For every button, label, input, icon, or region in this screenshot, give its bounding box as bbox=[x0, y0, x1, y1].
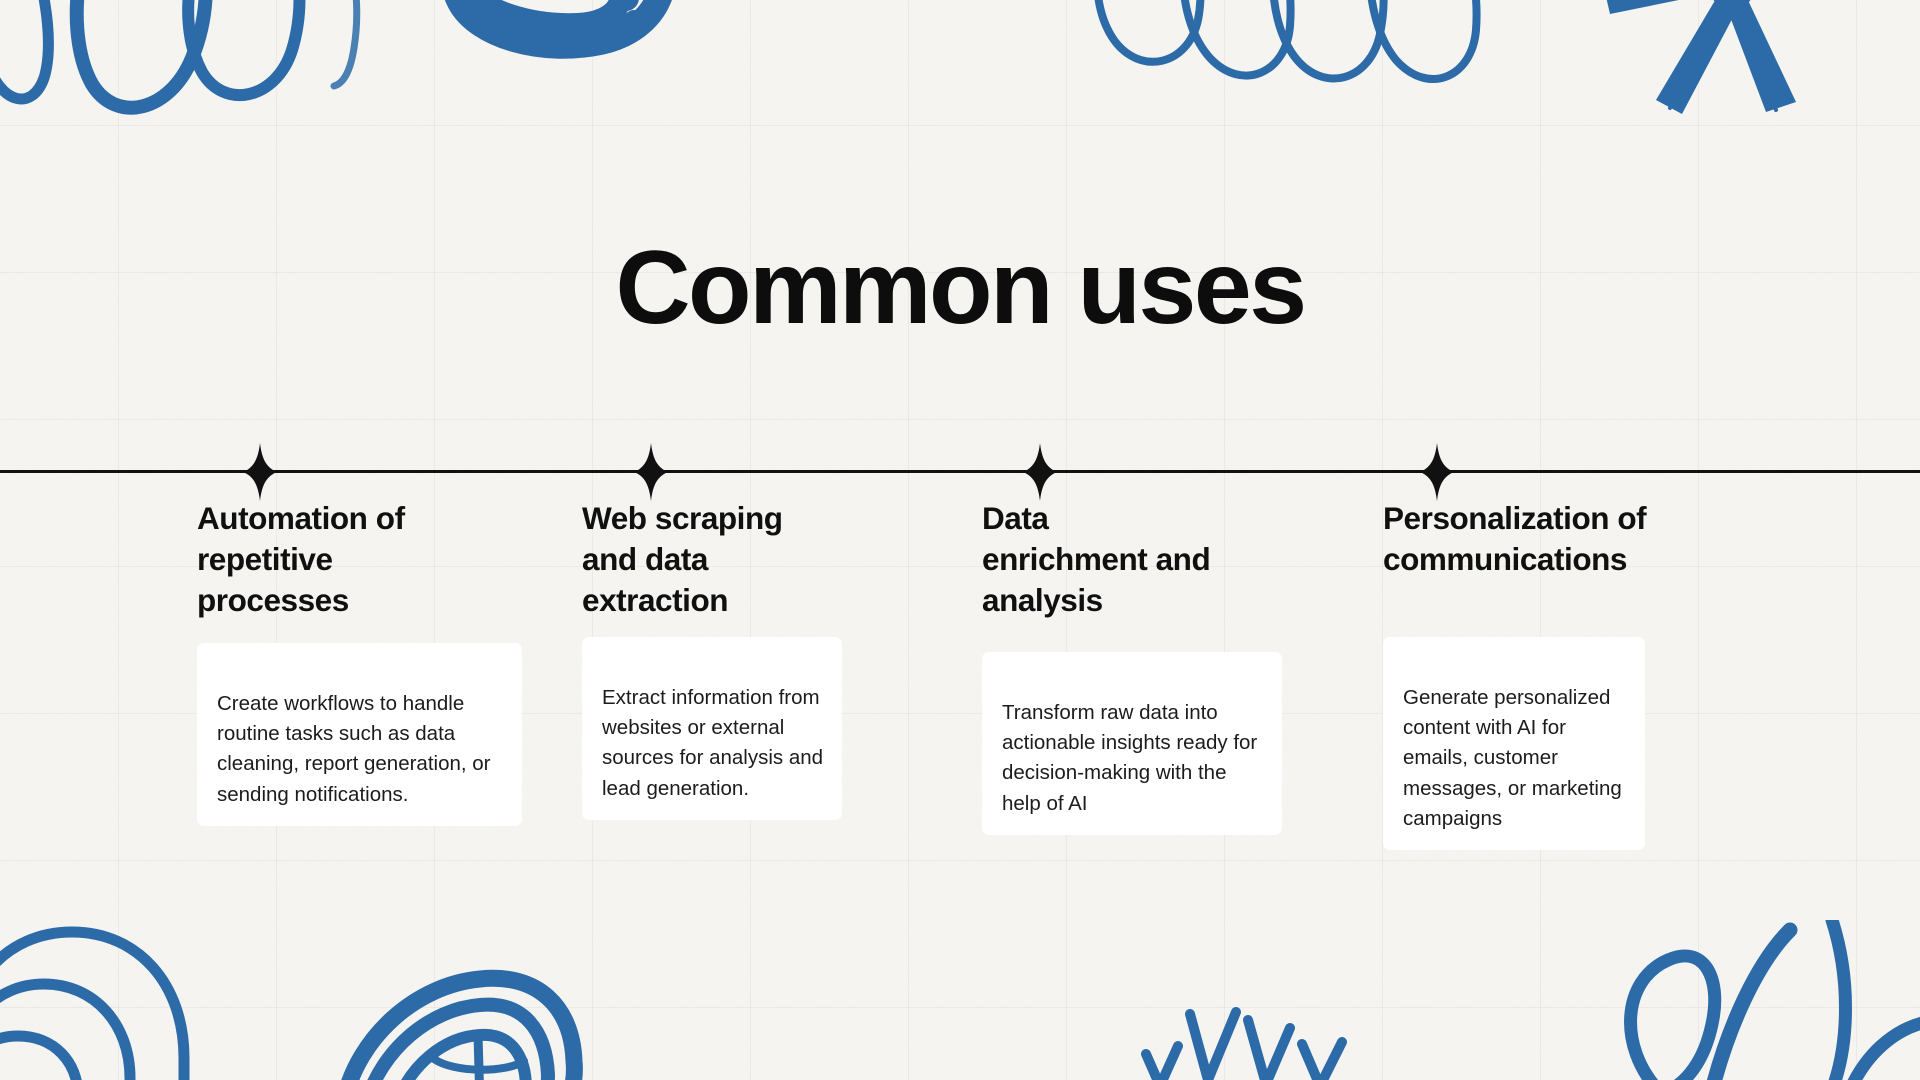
column-body-3: Transform raw data into actionable insig… bbox=[1002, 701, 1257, 814]
timeline-axis bbox=[0, 470, 1920, 473]
slide-title: Common uses bbox=[0, 236, 1920, 340]
column-card-1: Create workflows to handle routine tasks… bbox=[197, 643, 522, 826]
four-point-sparkle-icon-4 bbox=[1420, 443, 1454, 501]
column-card-3: Transform raw data into actionable insig… bbox=[982, 652, 1282, 835]
blue-loops-scribble-top-left bbox=[0, 0, 390, 128]
blue-check-marks-bottom-right bbox=[1130, 990, 1470, 1080]
timeline-column-1: Automation of repetitive processes bbox=[197, 498, 497, 621]
timeline-column-2: Web scraping and data extraction bbox=[582, 498, 872, 621]
timeline-column-3: Data enrichment and analysis bbox=[982, 498, 1312, 621]
column-body-2: Extract information from websites or ext… bbox=[602, 686, 823, 799]
column-body-4: Generate personalized content with AI fo… bbox=[1403, 686, 1622, 830]
column-heading-3: Data enrichment and analysis bbox=[982, 498, 1312, 621]
column-heading-4: Personalization of communications bbox=[1383, 498, 1743, 580]
four-point-sparkle-icon-3 bbox=[1023, 443, 1057, 501]
column-heading-2: Web scraping and data extraction bbox=[582, 498, 872, 621]
blue-concentric-arcs-bottom-left bbox=[0, 910, 280, 1080]
column-card-4: Generate personalized content with AI fo… bbox=[1383, 637, 1645, 850]
four-point-sparkle-icon-1 bbox=[243, 443, 277, 501]
column-heading-1: Automation of repetitive processes bbox=[197, 498, 497, 621]
blue-dense-scribble-top-middle bbox=[420, 0, 720, 120]
timeline-column-4: Personalization of communications bbox=[1383, 498, 1743, 580]
blue-shell-scribble-bottom-middle bbox=[330, 965, 620, 1080]
four-point-sparkle-icon-2 bbox=[634, 443, 668, 501]
column-card-2: Extract information from websites or ext… bbox=[582, 637, 842, 820]
blue-star-brush-top-right bbox=[1600, 0, 1860, 124]
blue-spiral-loops-top-right bbox=[1080, 0, 1520, 120]
slide-canvas: Common uses Automation of repetitive pro… bbox=[0, 0, 1920, 1080]
blue-curved-stroke-bottom-right bbox=[1600, 920, 1920, 1080]
column-body-1: Create workflows to handle routine tasks… bbox=[217, 692, 491, 805]
